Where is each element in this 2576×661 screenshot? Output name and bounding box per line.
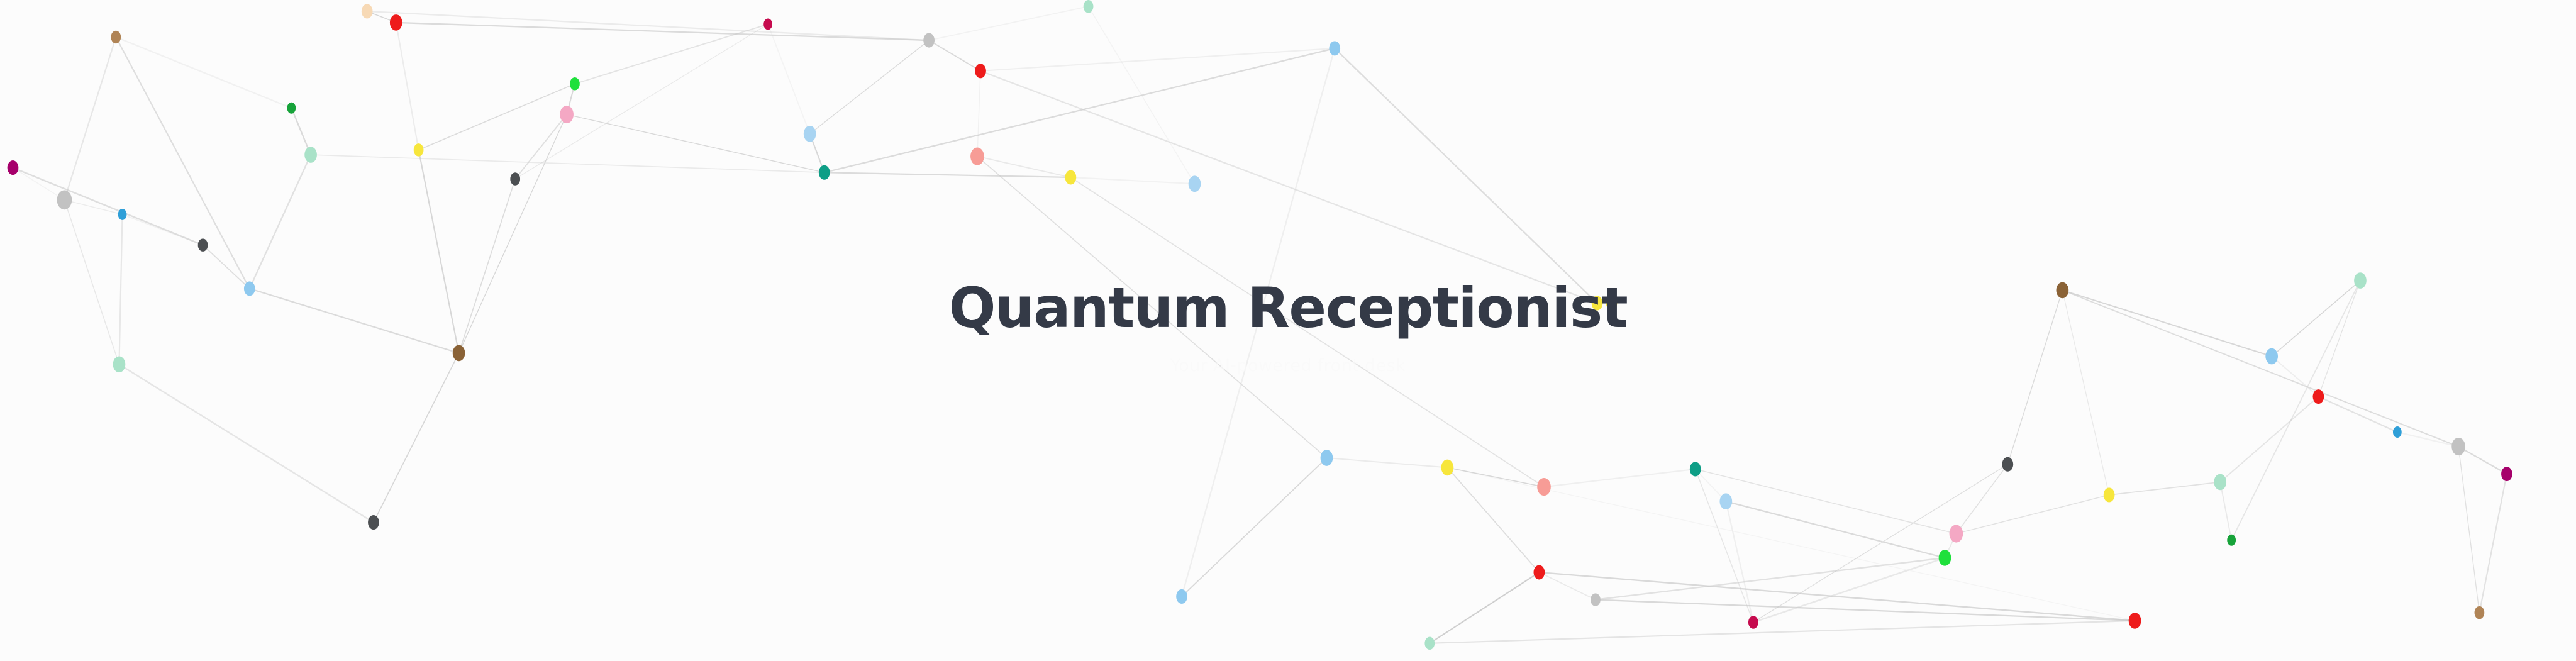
network-node	[2501, 467, 2512, 481]
network-node	[1939, 550, 1951, 566]
network-edge	[977, 157, 1070, 177]
network-node	[198, 238, 208, 252]
network-node	[1591, 593, 1601, 606]
network-edge	[1430, 572, 1539, 643]
network-node	[1329, 41, 1340, 55]
network-edge	[419, 84, 575, 150]
network-node	[2354, 272, 2367, 289]
network-node	[560, 106, 574, 123]
network-node	[414, 143, 424, 157]
network-node	[819, 165, 830, 180]
network-edge	[1696, 469, 1957, 534]
network-edge	[1326, 458, 1447, 467]
network-edge	[2220, 397, 2318, 482]
network-node	[1606, 296, 1618, 310]
network-edge	[64, 37, 116, 200]
network-node	[2129, 613, 2141, 629]
network-edge	[396, 23, 929, 40]
network-edge	[2062, 290, 2458, 447]
network-edge	[2272, 357, 2318, 397]
network-edge	[1726, 501, 1945, 558]
network-edge	[1182, 48, 1335, 597]
network-edge	[116, 37, 249, 289]
network-node	[1537, 478, 1551, 496]
network-edge	[2220, 482, 2231, 540]
network-edge	[419, 150, 459, 353]
particle-network-background	[0, 0, 2576, 661]
network-edge	[1335, 48, 1597, 303]
hero-banner: Quantum Receptionist Your AI-powered fro…	[0, 0, 2576, 661]
network-edge	[367, 11, 929, 40]
network-node	[2214, 474, 2226, 491]
network-edge-group	[13, 6, 2506, 643]
network-edge	[2479, 474, 2507, 613]
network-node	[510, 172, 520, 186]
network-edge	[2458, 447, 2479, 613]
network-edge	[2007, 290, 2062, 464]
network-edge	[459, 114, 567, 353]
network-node	[2057, 282, 2069, 299]
network-edge	[64, 200, 119, 364]
network-edge	[977, 71, 980, 157]
network-node	[2393, 426, 2402, 438]
network-node	[1084, 0, 1094, 13]
network-node	[287, 103, 296, 114]
network-edge	[1070, 177, 1194, 184]
network-edge	[567, 114, 824, 172]
network-edge	[13, 168, 203, 245]
network-node	[1065, 170, 1077, 184]
network-node	[111, 31, 121, 44]
network-edge	[1089, 6, 1195, 184]
network-edge	[396, 23, 419, 150]
network-edge	[1956, 464, 2007, 533]
network-node	[57, 190, 72, 209]
network-node	[804, 126, 816, 142]
network-edge	[1070, 177, 1544, 487]
network-node	[113, 357, 126, 373]
network-edge	[2318, 397, 2397, 432]
network-edge	[977, 157, 1327, 458]
network-edge	[119, 364, 373, 522]
network-node	[1424, 637, 1435, 650]
network-node	[1176, 589, 1187, 604]
network-node	[975, 64, 986, 78]
network-edge	[980, 48, 1335, 71]
network-edge	[64, 200, 122, 214]
network-node	[923, 33, 935, 48]
network-node	[8, 160, 19, 175]
network-edge	[1956, 495, 2109, 534]
network-node	[362, 4, 373, 18]
network-node	[570, 77, 580, 91]
network-node	[368, 515, 379, 530]
network-node	[1189, 175, 1201, 192]
network-edge	[459, 179, 516, 353]
network-edge	[1596, 558, 1945, 600]
network-edge	[1696, 469, 1753, 623]
network-edge	[824, 48, 1335, 172]
network-edge	[768, 24, 810, 133]
network-node	[1690, 462, 1701, 476]
network-edge	[2231, 281, 2360, 540]
network-node	[244, 281, 255, 296]
network-edge	[250, 155, 311, 289]
network-node	[1592, 296, 1603, 310]
network-node	[2104, 487, 2115, 502]
network-edge	[311, 155, 824, 172]
network-node	[2227, 535, 2236, 546]
network-edge	[929, 6, 1088, 40]
network-node	[970, 148, 984, 165]
network-edge	[250, 289, 459, 353]
network-edge	[1182, 458, 1326, 596]
network-edge	[1544, 469, 1696, 487]
network-node	[118, 209, 127, 220]
network-edge	[2062, 290, 2272, 356]
network-node	[1719, 493, 1732, 509]
network-edge	[1430, 621, 2135, 643]
network-node	[453, 345, 465, 362]
network-edge	[575, 24, 768, 84]
network-node	[2002, 457, 2013, 472]
network-node	[1748, 616, 1758, 629]
network-edge	[515, 24, 768, 179]
network-edge	[1753, 464, 2007, 622]
network-node	[304, 147, 317, 163]
network-edge	[515, 114, 567, 179]
network-edge	[810, 40, 929, 134]
network-node	[390, 14, 402, 31]
network-edge	[119, 214, 122, 364]
network-edge	[824, 172, 1071, 177]
network-node	[2313, 389, 2324, 404]
network-edge	[929, 40, 980, 71]
network-node	[2265, 348, 2278, 365]
network-edge	[2062, 290, 2109, 495]
network-node-group	[8, 0, 2512, 650]
network-node	[763, 18, 772, 30]
network-node	[1321, 450, 1333, 466]
network-node	[1441, 460, 1454, 476]
network-node	[1950, 525, 1963, 542]
network-node	[2451, 438, 2465, 455]
network-edge	[374, 353, 459, 522]
network-edge	[980, 71, 1597, 303]
network-edge	[116, 37, 291, 108]
network-edge	[2458, 447, 2507, 474]
network-edge	[203, 245, 250, 289]
network-node	[1534, 565, 1545, 579]
network-edge	[13, 168, 64, 200]
network-node	[2475, 606, 2485, 619]
network-edge	[1447, 467, 2135, 621]
network-edge	[2109, 482, 2221, 495]
